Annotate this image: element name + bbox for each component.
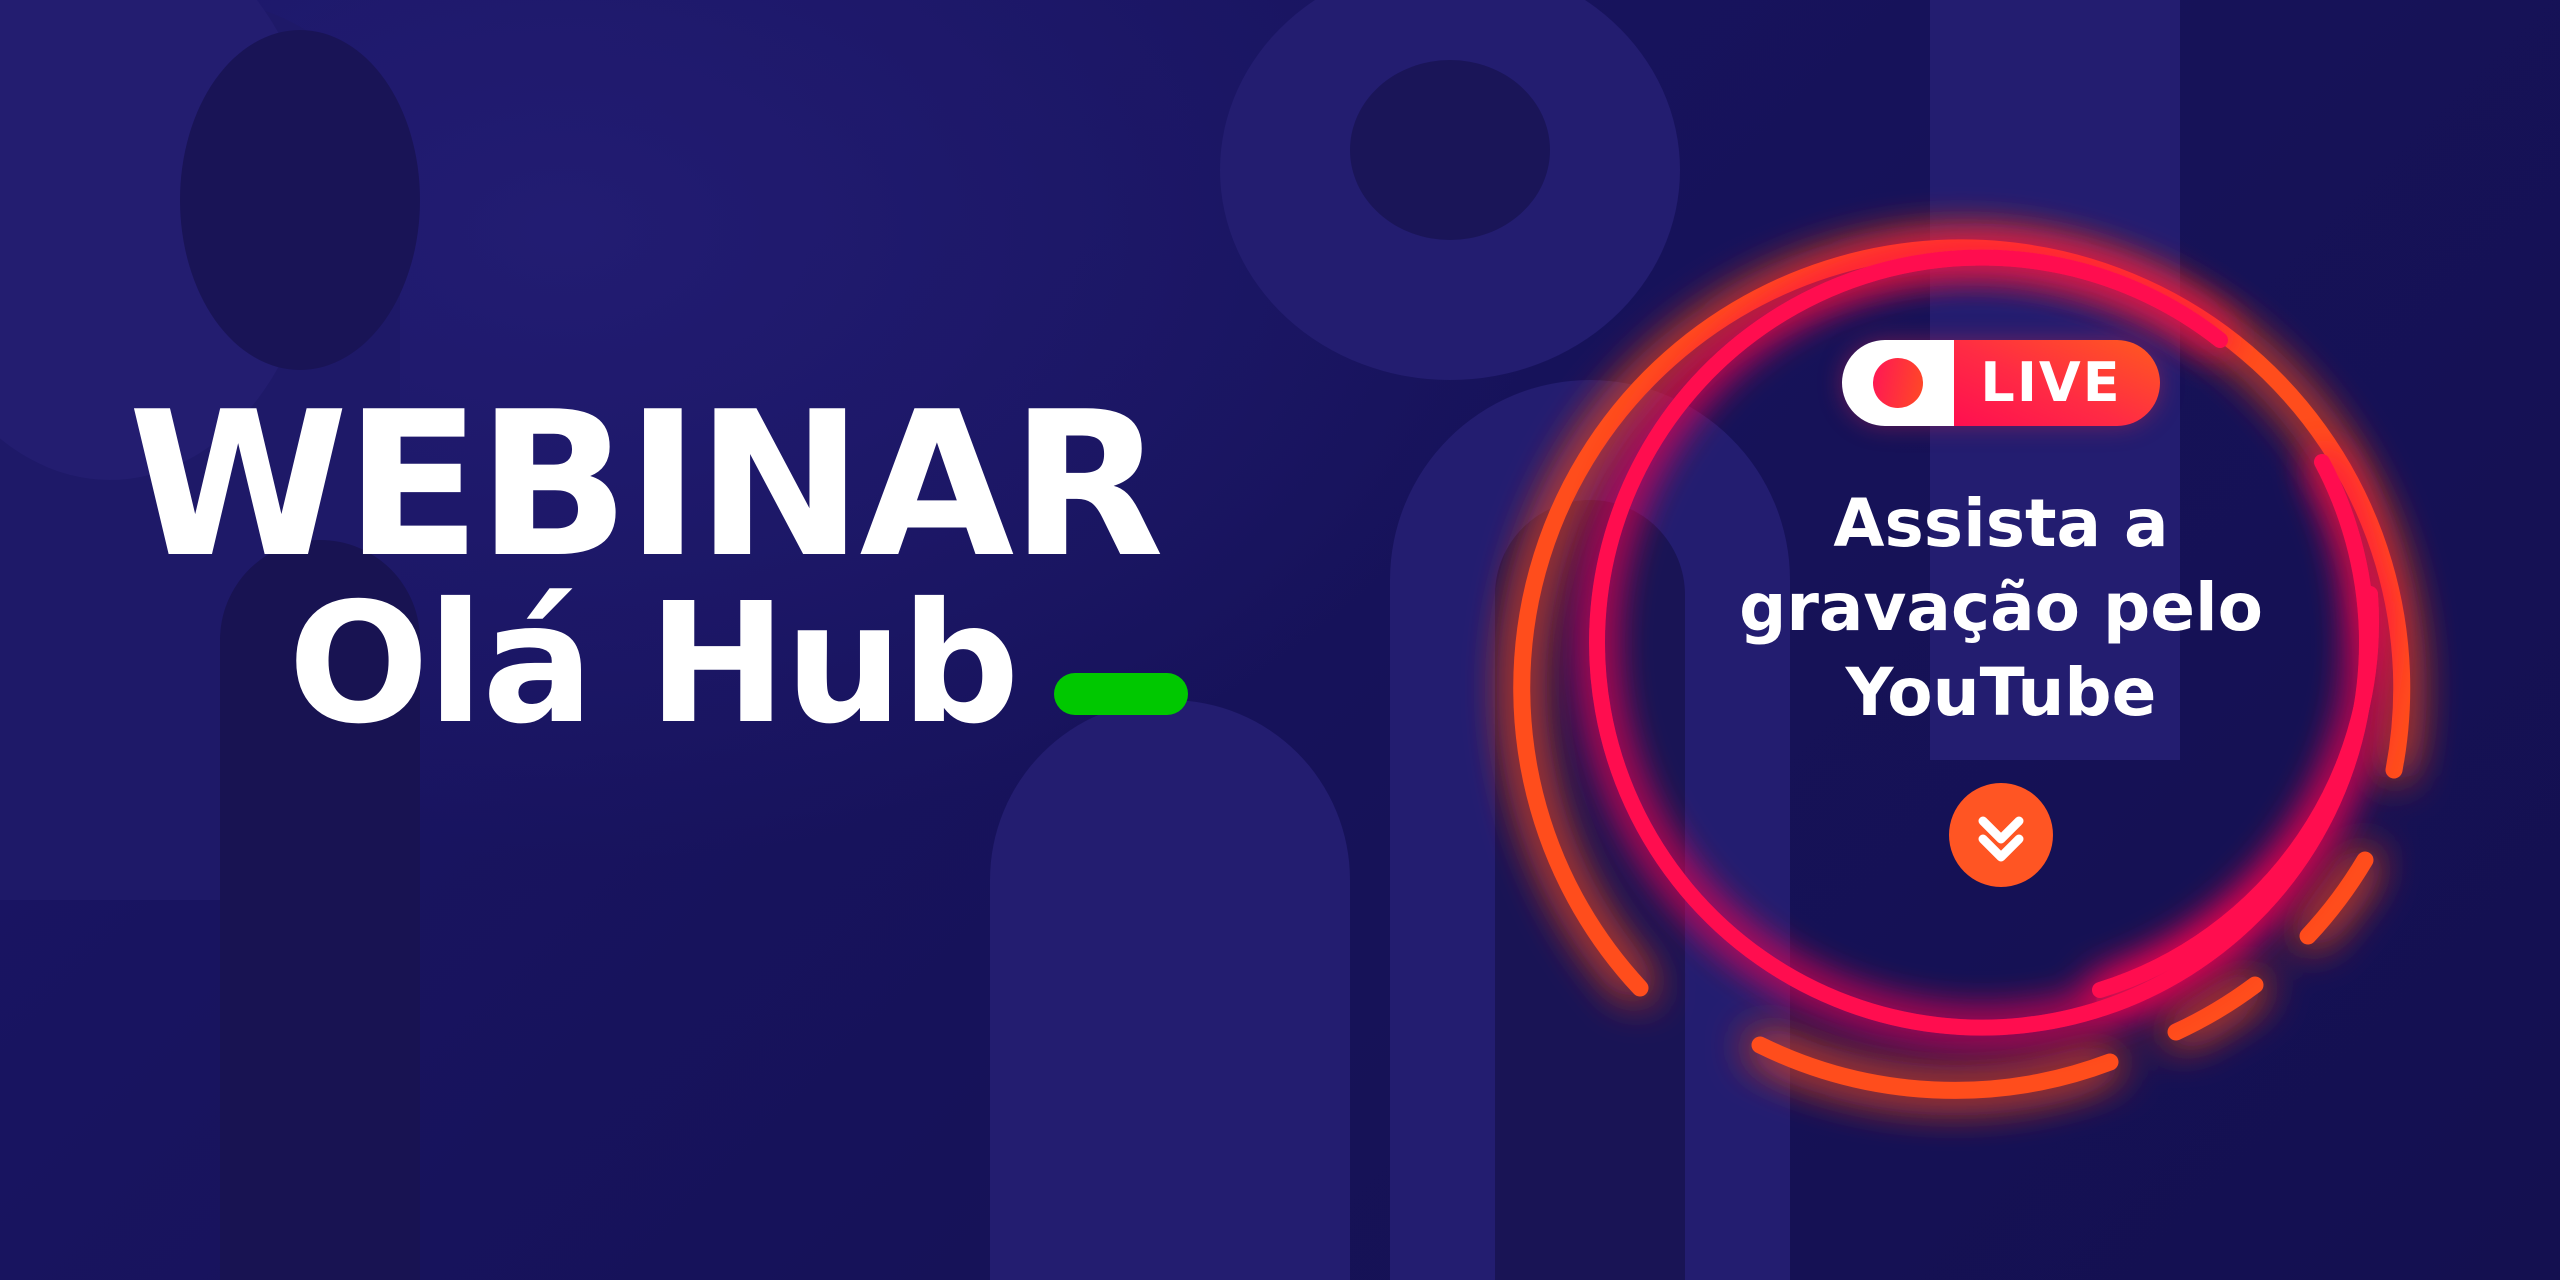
callout-line-3: YouTube (1739, 651, 2263, 735)
webinar-banner: WEBINAR Olá Hub (0, 0, 2560, 1280)
live-badge: LIVE (1842, 340, 2159, 426)
callout-line-2: gravação pelo (1739, 566, 2263, 650)
callout-text: Assista a gravação pelo YouTube (1739, 482, 2263, 735)
scroll-down-button[interactable] (1949, 783, 2053, 887)
page-title: WEBINAR (128, 400, 1188, 572)
live-badge-dot-area (1842, 340, 1954, 426)
live-badge-label-area: LIVE (1954, 340, 2159, 426)
callout-line-1: Assista a (1739, 482, 2263, 566)
headline-block: WEBINAR Olá Hub (128, 400, 1188, 739)
live-badge-label: LIVE (1980, 356, 2121, 410)
chevron-double-down-icon (1969, 803, 2033, 867)
ring-content-block: LIVE Assista a gravação pelo YouTube (1636, 340, 2366, 887)
cursor-dash-accent (1054, 673, 1188, 715)
page-subtitle: Olá Hub (288, 590, 1018, 739)
bg-shape-donut-top-left-hole (180, 30, 420, 370)
headline-sub-row: Olá Hub (288, 590, 1188, 739)
record-dot-icon (1873, 358, 1923, 408)
bg-shape-arch-bottom-center (990, 700, 1350, 1280)
